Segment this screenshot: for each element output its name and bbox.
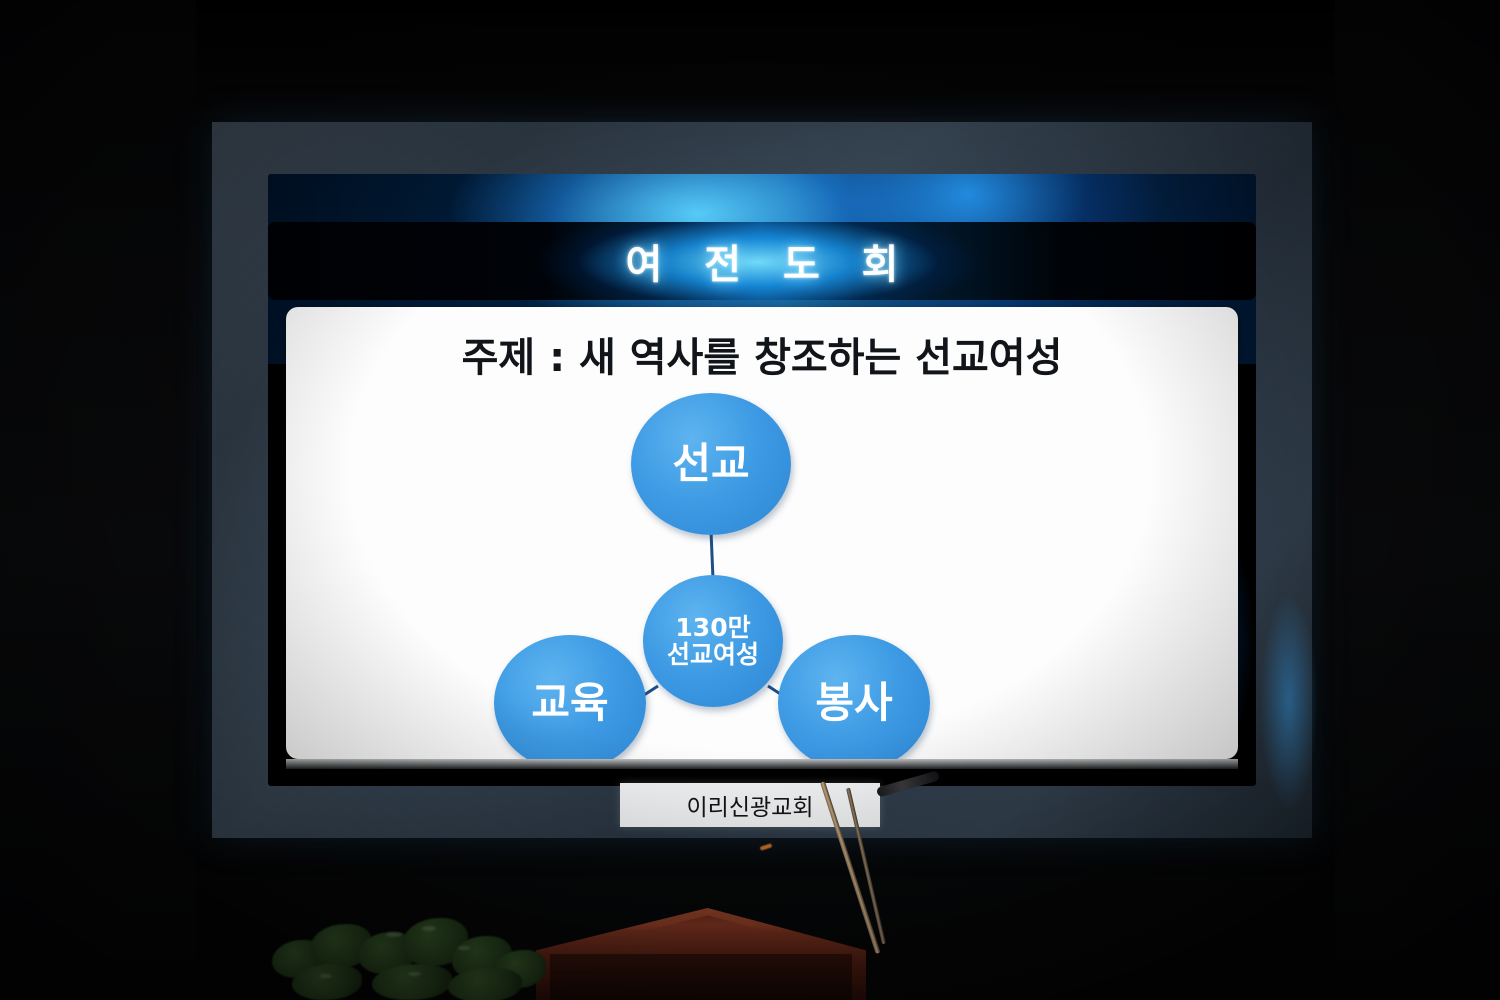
wall-panel-left	[0, 0, 196, 1000]
slide-header-title: 여 전 도 회	[612, 232, 913, 290]
hub-and-spoke-diagram: 선교 130만 선교여성 교육 봉사	[286, 389, 1238, 757]
diagram-node-mission-label: 선교	[672, 441, 749, 486]
projection-screen-bezel: 여 전 도 회 주제 : 새 역사를 창조하는 선교여성 선교	[212, 122, 1312, 838]
diagram-node-mission[interactable]: 선교	[631, 393, 791, 535]
wooden-podium	[536, 908, 866, 1000]
diagram-node-service[interactable]: 봉사	[778, 635, 930, 759]
podium-front-face	[550, 954, 852, 1000]
wall-top-band	[0, 0, 1500, 118]
decorative-plant	[262, 902, 562, 1000]
diagram-node-center-line1: 130만	[675, 614, 750, 641]
slide-header-bar: 여 전 도 회	[268, 222, 1256, 300]
auditorium-scene: 여 전 도 회 주제 : 새 역사를 창조하는 선교여성 선교	[0, 0, 1500, 1000]
diagram-node-education-label: 교육	[531, 680, 608, 725]
connector-center-to-top	[711, 531, 713, 579]
church-name-caption: 이리신광교회	[687, 788, 814, 822]
slide-subtitle: 주제 : 새 역사를 창조하는 선교여성	[286, 325, 1238, 383]
slide-content-panel: 주제 : 새 역사를 창조하는 선교여성 선교 130만	[286, 307, 1238, 759]
diagram-node-service-label: 봉사	[815, 680, 892, 725]
diagram-node-education[interactable]: 교육	[494, 635, 646, 759]
presentation-slide: 여 전 도 회 주제 : 새 역사를 창조하는 선교여성 선교	[268, 174, 1256, 786]
wall-panel-right	[1335, 0, 1500, 1000]
slide-bottom-strip	[286, 759, 1238, 769]
diagram-node-center-line2: 선교여성	[667, 641, 759, 668]
diagram-node-center[interactable]: 130만 선교여성	[643, 575, 783, 707]
church-name-caption-box: 이리신광교회	[620, 783, 880, 827]
